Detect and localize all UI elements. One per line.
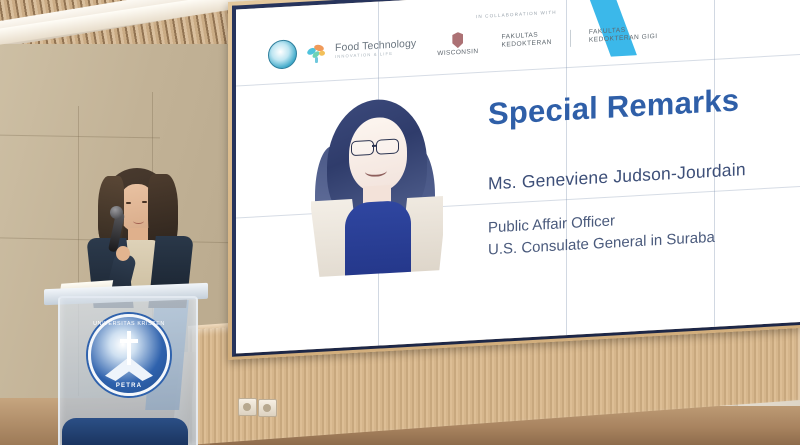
slide-role-block: Public Affair Officer U.S. Consulate Gen… — [488, 205, 715, 261]
slide-speaker-name: Ms. Geneviene Judson-Jourdain — [488, 159, 746, 194]
food-technology-mark-icon — [306, 39, 330, 64]
slide-title: Special Remarks — [488, 82, 739, 132]
wisconsin-label: WISCONSIN — [437, 48, 478, 57]
faculty-medicine-line2: KEDOKTERAN — [501, 39, 551, 49]
foreground-chair — [62, 418, 188, 445]
wall-outlet — [238, 398, 257, 416]
slide-logo-row: Food Technology INNOVATION & LIFE WISCON… — [268, 10, 688, 75]
speaker-eye — [126, 202, 131, 204]
speaker-mouth — [133, 218, 144, 224]
wisconsin-logo: WISCONSIN — [437, 31, 478, 57]
portrait-navy-top — [345, 200, 411, 278]
speaker-eye — [142, 201, 147, 203]
seal-cross-bar — [120, 339, 138, 343]
petra-university-seal: UNIVERSITAS KRISTEN PETRA — [88, 314, 170, 396]
video-wall-frame: Food Technology INNOVATION & LIFE WISCON… — [228, 0, 800, 360]
seal-cross-icon — [127, 331, 131, 365]
globe-seal-icon — [268, 39, 297, 70]
screenshot-root: Food Technology INNOVATION & LIFE WISCON… — [0, 0, 800, 445]
wall-outlet — [258, 399, 277, 417]
wisconsin-crest-icon — [452, 32, 463, 49]
outlet-socket — [263, 404, 271, 412]
food-technology-logo: Food Technology INNOVATION & LIFE — [306, 34, 416, 64]
logo-divider — [570, 29, 571, 46]
faculty-logo-dentistry: FAKULTAS KEDOKTERAN GIGI — [589, 25, 658, 44]
speaker-hand — [116, 246, 130, 261]
faculty-logo-medicine: FAKULTAS KEDOKTERAN — [501, 31, 551, 49]
presentation-screen[interactable]: Food Technology INNOVATION & LIFE WISCON… — [236, 0, 800, 354]
panel-seam — [0, 135, 160, 139]
outlet-socket — [243, 403, 251, 411]
seal-top-text: UNIVERSITAS KRISTEN — [91, 321, 167, 327]
seal-bottom-text: PETRA — [91, 383, 167, 389]
speaker-portrait-photo — [311, 90, 443, 277]
